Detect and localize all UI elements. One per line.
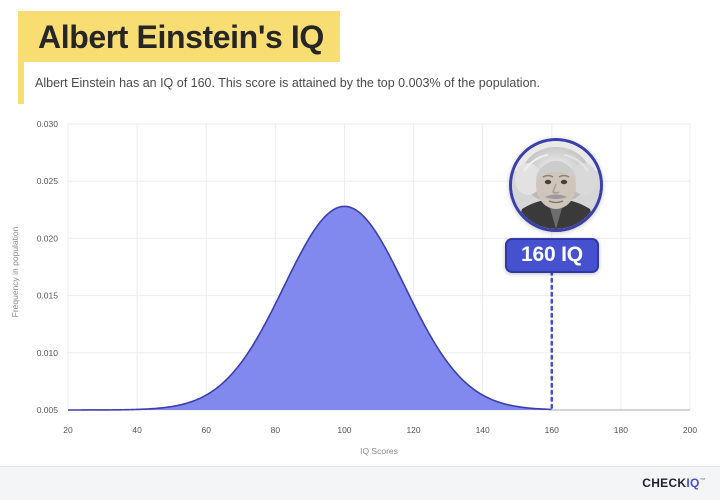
x-axis-title: IQ Scores [360, 446, 398, 456]
title-highlight-band: Albert Einstein's IQ [18, 11, 340, 62]
brand-logo-check: CHECK [642, 476, 686, 490]
header: Albert Einstein's IQ Albert Einstein has… [0, 0, 720, 112]
y-axis-title: Frequency in population [10, 226, 20, 317]
brand-logo: CHECKIQ™ [642, 476, 706, 490]
svg-text:0.010: 0.010 [37, 348, 59, 358]
iq-score-badge-label: 160 IQ [521, 243, 583, 266]
accent-bar [18, 62, 24, 104]
brand-logo-iq: IQ [686, 476, 699, 490]
svg-text:60: 60 [201, 425, 211, 435]
svg-text:80: 80 [271, 425, 281, 435]
subtitle: Albert Einstein has an IQ of 160. This s… [35, 76, 540, 90]
svg-text:0.025: 0.025 [37, 176, 59, 186]
svg-text:0.005: 0.005 [37, 405, 59, 415]
avatar [509, 138, 603, 232]
x-axis-tick-labels: 20406080100120140160180200 [63, 425, 697, 435]
svg-text:140: 140 [476, 425, 490, 435]
svg-text:180: 180 [614, 425, 628, 435]
svg-text:0.030: 0.030 [37, 119, 59, 129]
einstein-portrait-icon [512, 141, 600, 229]
svg-text:120: 120 [406, 425, 420, 435]
brand-logo-tm: ™ [700, 478, 706, 484]
svg-text:160: 160 [545, 425, 559, 435]
page-title: Albert Einstein's IQ [38, 21, 324, 53]
svg-text:0.020: 0.020 [37, 233, 59, 243]
footer: CHECKIQ™ [0, 466, 720, 500]
svg-text:40: 40 [132, 425, 142, 435]
y-axis-tick-labels: 0.0050.0100.0150.0200.0250.030 [37, 119, 59, 415]
svg-text:100: 100 [337, 425, 351, 435]
iq-score-badge: 160 IQ [505, 238, 599, 273]
svg-text:200: 200 [683, 425, 697, 435]
svg-text:20: 20 [63, 425, 73, 435]
chart-container: 0.0050.0100.0150.0200.0250.030 204060801… [0, 112, 720, 462]
svg-text:0.015: 0.015 [37, 291, 59, 301]
iq-distribution-chart: 0.0050.0100.0150.0200.0250.030 204060801… [0, 112, 720, 462]
